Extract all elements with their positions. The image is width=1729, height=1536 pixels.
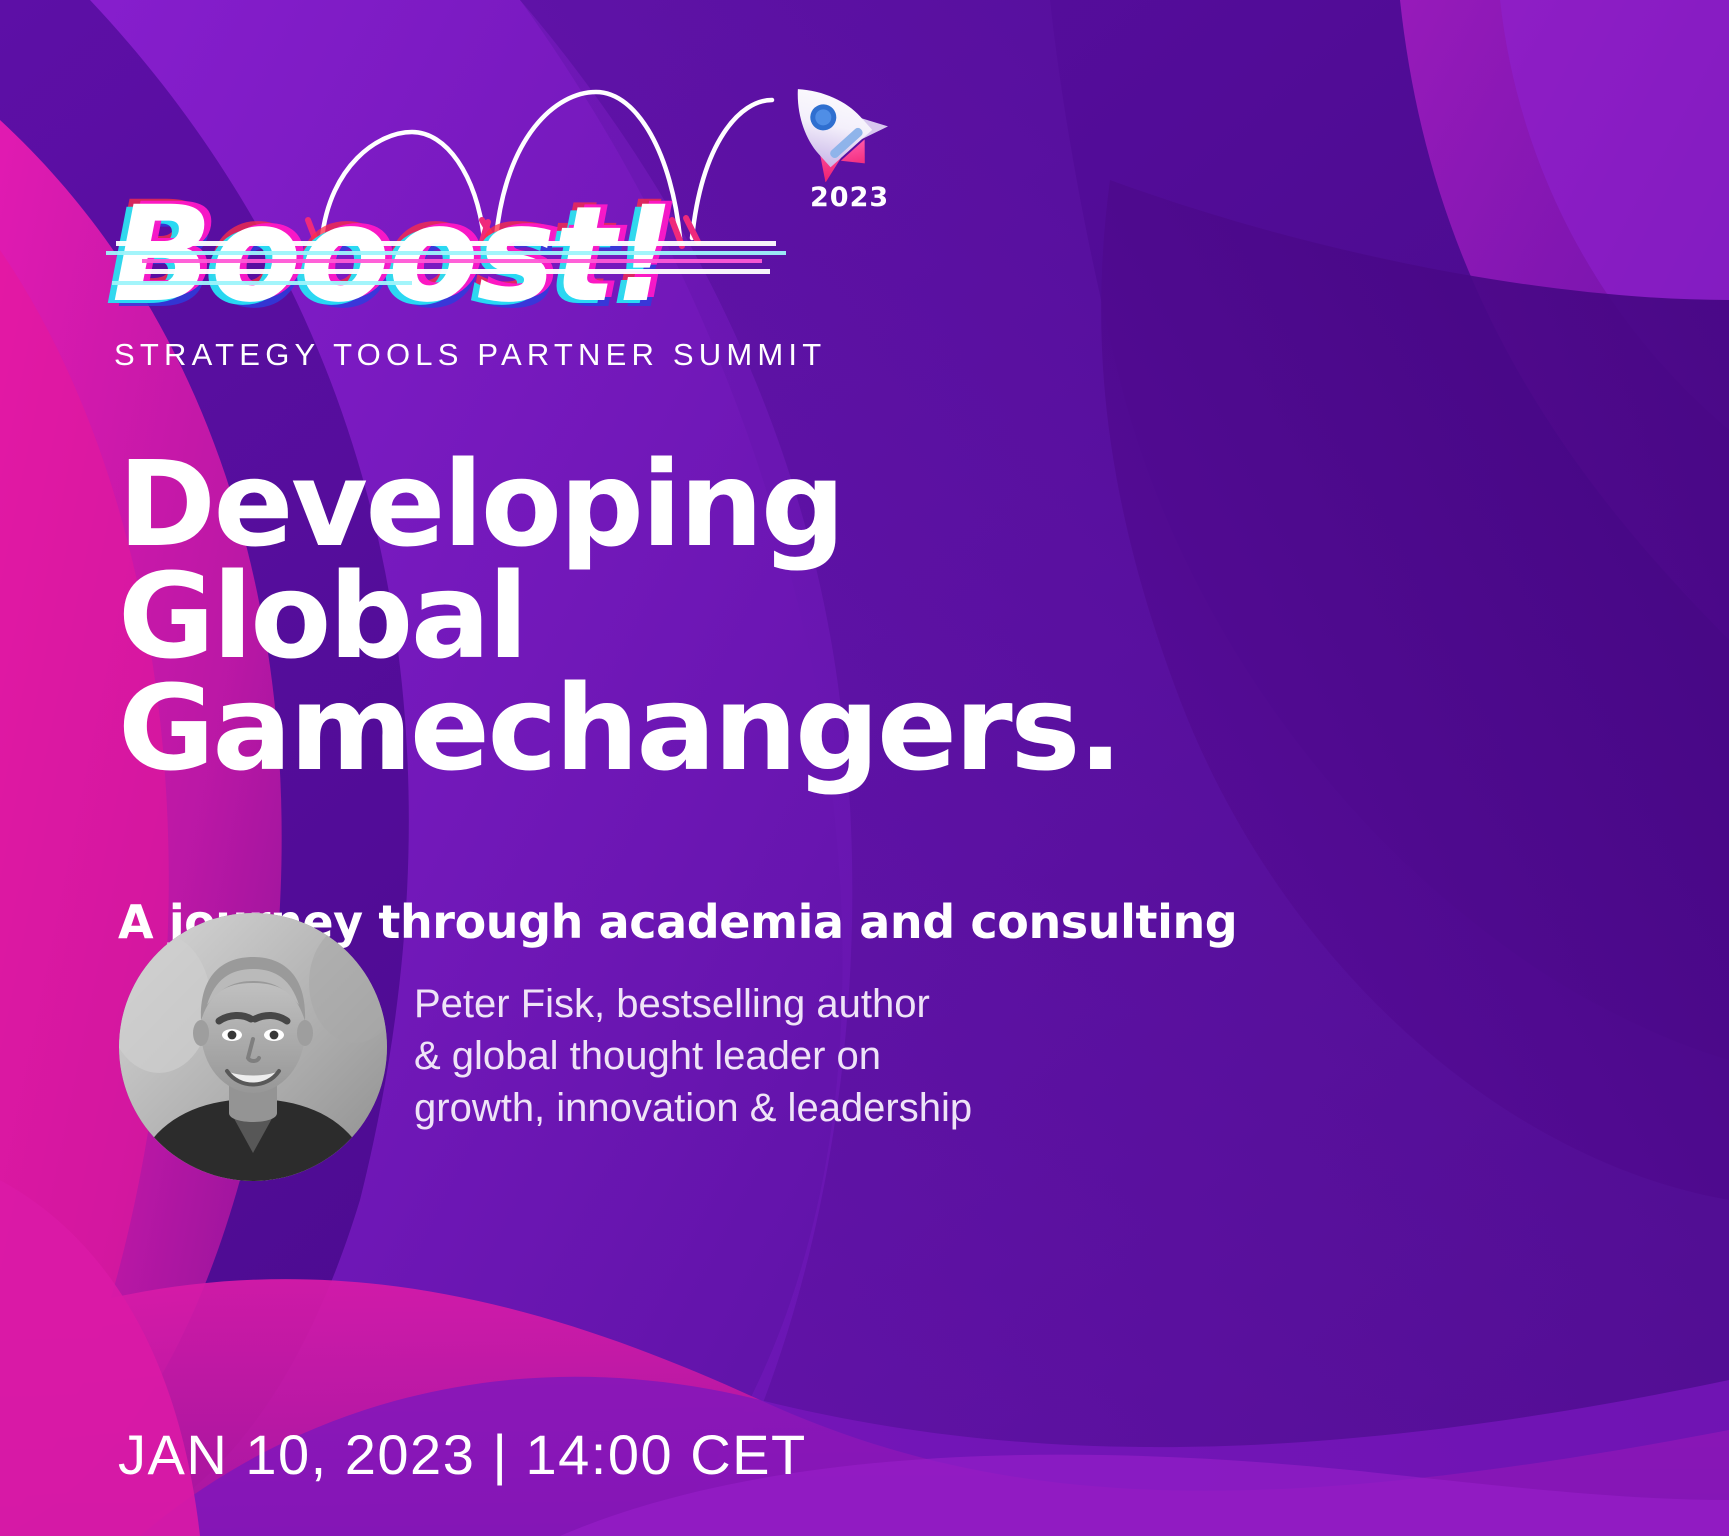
- bio-line-3: growth, innovation & leadership: [414, 1082, 972, 1134]
- bio-line-1: Peter Fisk, bestselling author: [414, 978, 972, 1030]
- event-datetime: JAN 10, 2023 | 14:00 CET: [118, 1422, 807, 1487]
- glitch-slice-4: [130, 269, 770, 274]
- rocket-icon: [772, 72, 892, 182]
- event-tagline: STRATEGY TOOLS PARTNER SUMMIT: [114, 337, 826, 373]
- event-logo: Booost! Booost! Booost! Booost! Booost! …: [112, 185, 892, 395]
- headline-line-1: Developing: [118, 448, 1368, 560]
- speaker-portrait: [119, 913, 387, 1181]
- page-title: Developing Global Gamechangers.: [118, 448, 1368, 784]
- headline-line-2: Global: [118, 560, 1368, 672]
- speaker-bio: Peter Fisk, bestselling author & global …: [414, 978, 972, 1134]
- wordmark-layer-main: Booost!: [112, 185, 673, 325]
- glitch-slice-5: [112, 281, 412, 285]
- wordmark-glitch: Booost! Booost! Booost! Booost! Booost!: [112, 185, 812, 325]
- glitch-slice-3: [142, 259, 762, 263]
- glitch-slice-2: [106, 251, 786, 255]
- glitch-slice-1: [116, 241, 776, 246]
- headline-line-3: Gamechangers.: [118, 672, 1368, 784]
- promo-poster: 2023 Booost! Booost! Booost! Booost! Boo…: [0, 0, 1729, 1536]
- bio-line-2: & global thought leader on: [414, 1030, 972, 1082]
